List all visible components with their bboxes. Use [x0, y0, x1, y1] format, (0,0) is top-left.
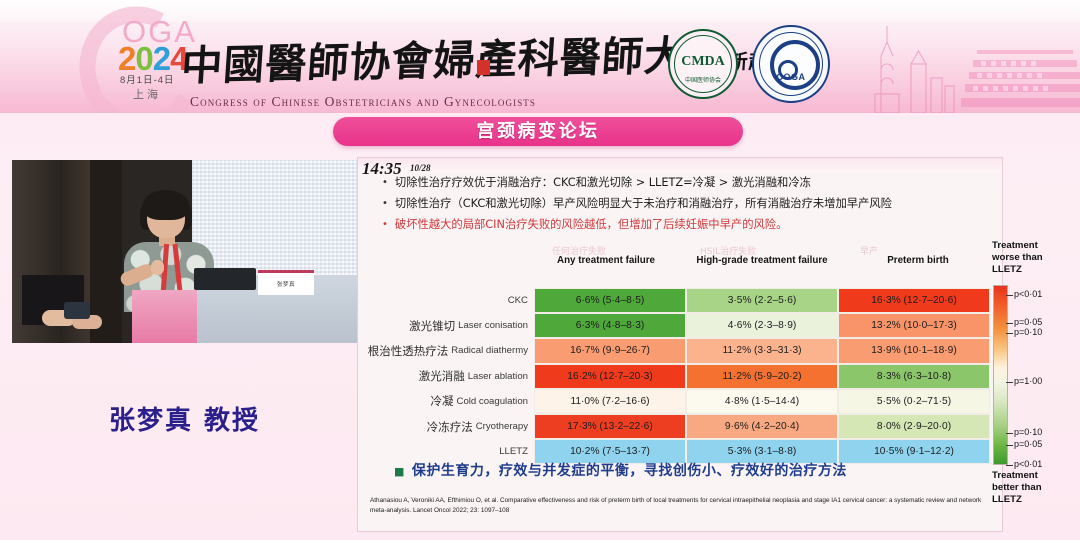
column-header-1: High-grade treatment failure [684, 255, 840, 267]
heatmap-cell: 4·6% (2·3–8·9) [686, 313, 838, 338]
heatmap-cell: 10·5% (9·1–12·2) [838, 439, 990, 464]
slide-bullet-list: • 切除性治疗疗效优于消融治疗：CKC和激光切除 > LLETZ=冷凝 > 激光… [382, 176, 990, 239]
heatmap-cell: 11·2% (3·3–31·3) [686, 338, 838, 363]
legend-tick: p<0·01 [1014, 289, 1042, 299]
bullet-dot-icon: • [382, 218, 388, 232]
speaker-hand [151, 260, 164, 275]
heatmap-cell: 8·0% (2·9–20·0) [838, 414, 990, 439]
legend-tick: p=0·05 [1014, 439, 1042, 449]
legend-top-label: Treatment worse than LLETZ [992, 240, 1064, 276]
column-header-2: Preterm birth [840, 255, 996, 267]
bullet-item-emphasis: • 破坏性越大的局部CIN治疗失败的风险越低，但增加了后续妊娠中早产的风险。 [382, 218, 990, 232]
heatmap-cell: 11·2% (5·9–20·2) [686, 364, 838, 389]
heatmap-cell: 13·9% (10·1–18·9) [838, 338, 990, 363]
slide-citation: Athanasiou A, Veroniki AA, Efthimiou O, … [370, 496, 988, 515]
red-seal-icon [477, 60, 490, 75]
heatmap-row: 根治性透热疗法Radical diathermy16·7% (9·9–26·7)… [370, 338, 990, 363]
treatment-outcomes-heatmap: 任何治疗失败 HSIL治疗失败 早产 Any treatment failure… [370, 244, 990, 464]
bullet-item: • 切除性治疗（CKC和激光切除）早产风险明显大于未治疗和消融治疗，所有消融治疗… [382, 197, 990, 211]
conference-english-title: Congress of Chinese Obstetricians and Gy… [190, 94, 536, 110]
heatmap-header-row: 任何治疗失败 HSIL治疗失败 早产 Any treatment failure… [370, 244, 990, 288]
speaker-hair [143, 190, 189, 220]
heatmap-row-label-cn: 根治性透热疗法 [368, 343, 449, 359]
session-title-banner: 宫颈病变论坛 [333, 117, 743, 146]
heatmap-cell: 13·2% (10·0–17·3) [838, 313, 990, 338]
laptop-icon [194, 268, 256, 290]
cmda-logo: CMDA 中国医师协会 [668, 29, 738, 99]
bullet-text: 切除性治疗（CKC和激光切除）早产风险明显大于未治疗和消融治疗，所有消融治疗未增… [395, 197, 892, 211]
shanghai-skyline-graphic [845, 20, 1080, 113]
heatmap-row: 激光消融Laser ablation16·2% (12·7–20·3)11·2%… [370, 364, 990, 389]
session-title-text: 宫颈病变论坛 [333, 117, 743, 146]
cmda-logo-label: CMDA [670, 54, 736, 70]
heatmap-row-label: 激光锥切Laser conisation [370, 313, 534, 338]
legend-tick: p=0·10 [1014, 327, 1042, 337]
heatmap-row: CKC6·6% (5·4–8·5)3·5% (2·2–5·6)16·3% (12… [370, 288, 990, 313]
heatmap-row-label-cn: 激光消融 [419, 368, 465, 384]
coga-logo: COGA [752, 25, 830, 103]
heatmap-row-label-cn: 激光锥切 [409, 318, 455, 334]
conference-header-banner: OGA 2024 8月1日-4日 上海 中國醫師协會婦產科醫師大會新起 Cong… [0, 0, 1080, 113]
heatmap-row-label: 激光消融Laser ablation [370, 364, 534, 389]
bullet-dot-icon: • [382, 197, 388, 211]
speaker-name-caption: 张梦真 教授 [12, 400, 357, 437]
speaker-video-feed[interactable]: 张梦真 [12, 160, 357, 343]
heatmap-row: 冷冻疗法Cryotherapy17·3% (13·2–22·6)9·6% (4·… [370, 414, 990, 439]
heatmap-cell: 16·7% (9·9–26·7) [534, 338, 686, 363]
heatmap-cell: 16·2% (12·7–20·3) [534, 364, 686, 389]
heatmap-row-label: CKC [370, 288, 534, 313]
heatmap-row-label-en: Laser conisation [458, 320, 528, 331]
heatmap-cell: 9·6% (4·2–20·4) [686, 414, 838, 439]
heatmap-row-label-en: Cryotherapy [476, 421, 528, 432]
heatmap-row-label-en: Laser ablation [468, 371, 528, 382]
heatmap-row-label-en: Radical diathermy [451, 345, 528, 356]
legend-tick: p=0·05 [1014, 317, 1042, 327]
heatmap-row-label-en: LLETZ [499, 446, 528, 457]
slide-timestamp-bar: 14:35 10/28 [358, 158, 1002, 172]
heatmap-row-label: 根治性透热疗法Radical diathermy [370, 338, 534, 363]
heatmap-row-label: 冷冻疗法Cryotherapy [370, 414, 534, 439]
heatmap-row-label-en: CKC [508, 295, 528, 306]
heatmap-row-label-cn: 冷冻疗法 [427, 419, 473, 435]
heatmap-row-label-en: Cold coagulation [457, 396, 528, 407]
coga-logo-inner-mark [770, 40, 820, 90]
heatmap-cell: 17·3% (13·2–22·6) [534, 414, 686, 439]
clock-date: 10/28 [410, 163, 431, 173]
legend-tick: p=1·00 [1014, 376, 1042, 386]
speaker-nameplate: 张梦真 [258, 270, 314, 295]
heatmap-row: 激光锥切Laser conisation6·3% (4·8–8·3)4·6% (… [370, 313, 990, 338]
heatmap-row: 冷凝Cold coagulation11·0% (7·2–16·6)4·8% (… [370, 389, 990, 414]
conference-city: 上海 [133, 86, 161, 102]
heatmap-cell: 5·5% (0·2–71·5) [838, 389, 990, 414]
heatmap-cell: 8·3% (6·3–10·8) [838, 364, 990, 389]
heatmap-rows: CKC6·6% (5·4–8·5)3·5% (2·2–5·6)16·3% (12… [370, 288, 990, 464]
conclusion-text: 保护生育力，疗效与并发症的平衡，寻找创伤小、疗效好的治疗方法 [412, 463, 847, 479]
heatmap-row-label-cn: 冷凝 [431, 393, 454, 409]
legend-gradient-bar [993, 285, 1008, 465]
coga-logo-label: COGA [754, 72, 828, 82]
legend-tick: p=0·10 [1014, 427, 1042, 437]
square-bullet-icon: ■ [394, 465, 405, 478]
broadcast-stage: OGA 2024 8月1日-4日 上海 中國醫師协會婦產科醫師大會新起 Cong… [0, 0, 1080, 540]
bullet-text: 破坏性越大的局部CIN治疗失败的风险越低，但增加了后续妊娠中早产的风险。 [395, 218, 787, 232]
heatmap-cell: 4·8% (1·5–14·4) [686, 389, 838, 414]
heatmap-cell: 16·3% (12·7–20·6) [838, 288, 990, 313]
bullet-text: 切除性治疗疗效优于消融治疗：CKC和激光切除 > LLETZ=冷凝 > 激光消融… [395, 176, 811, 190]
presentation-slide: 14:35 10/28 • 切除性治疗疗效优于消融治疗：CKC和激光切除 > L… [358, 158, 1002, 531]
slide-conclusion: ■保护生育力，疗效与并发症的平衡，寻找创伤小、疗效好的治疗方法 [394, 460, 847, 480]
bullet-item: • 切除性治疗疗效优于消融治疗：CKC和激光切除 > LLETZ=冷凝 > 激光… [382, 176, 990, 190]
phone-camera-icon [64, 302, 90, 319]
heatmap-cell: 6·3% (4·8–8·3) [534, 313, 686, 338]
cmda-logo-sub: 中国医师协会 [670, 75, 736, 84]
legend-bottom-label: Treatment better than LLETZ [992, 470, 1064, 506]
heatmap-cell: 11·0% (7·2–16·6) [534, 389, 686, 414]
legend-tick: p<0·01 [1014, 459, 1042, 469]
heatmap-row-label: 冷凝Cold coagulation [370, 389, 534, 414]
conference-dates: 8月1日-4日 [120, 72, 175, 86]
bullet-dot-icon: • [382, 176, 388, 190]
column-header-0: Any treatment failure [528, 255, 684, 267]
speaker-nameplate-text: 张梦真 [258, 280, 314, 288]
heatmap-cell: 6·6% (5·4–8·5) [534, 288, 686, 313]
heatmap-cell: 3·5% (2·2–5·6) [686, 288, 838, 313]
